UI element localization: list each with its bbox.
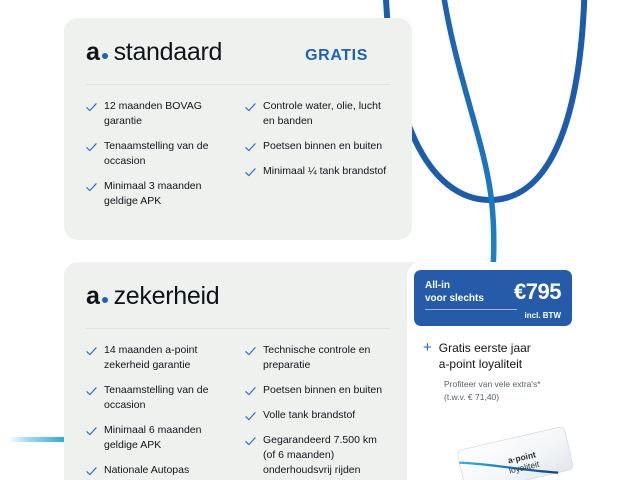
feature-column-right: Controle water, olie, lucht en banden Po… <box>245 99 390 219</box>
feature-column-left: 12 maanden BOVAG garantie Tenaamstelling… <box>86 99 231 219</box>
price-box-caption: All-in voor slechts <box>425 279 484 305</box>
feature-text: Minimaal 3 maanden geldige APK <box>104 179 231 209</box>
check-icon <box>245 436 256 447</box>
loyalty-title-line1: Gratis eerste jaar <box>439 341 531 355</box>
page-root: a standaard GRATIS 12 maanden BOVAG gara… <box>0 0 640 480</box>
brand-logo-zekerheid: a zekerheid <box>86 282 219 311</box>
check-icon <box>86 426 97 437</box>
feature-item: Technische controle en preparatie <box>245 343 390 373</box>
check-icon <box>86 102 97 113</box>
feature-item: Tenaamstelling van de occasion <box>86 383 231 413</box>
feature-text: Poetsen binnen en buiten <box>263 383 382 398</box>
loyalty-card-image: a·point loyaliteit <box>450 424 580 480</box>
feature-item: Volle tank brandstof <box>245 408 390 423</box>
feature-text: Tenaamstelling van de occasion <box>104 139 231 169</box>
feature-list-zekerheid: 14 maanden a-point zekerheid garantie Te… <box>86 343 390 480</box>
feature-item: Minimaal 3 maanden geldige APK <box>86 179 231 209</box>
check-icon <box>86 182 97 193</box>
package-name: standaard <box>114 38 223 67</box>
check-icon <box>245 386 256 397</box>
check-icon <box>86 346 97 357</box>
check-icon <box>245 142 256 153</box>
loyalty-heading: + Gratis eerste jaar a-point loyaliteit <box>423 340 583 372</box>
package-header-zekerheid: a zekerheid <box>86 282 390 316</box>
price-box-row: All-in voor slechts €795 <box>425 279 561 305</box>
feature-text: Technische controle en preparatie <box>263 343 390 373</box>
loyalty-title: Gratis eerste jaar a-point loyaliteit <box>439 340 531 372</box>
feature-item: Minimaal ¼ tank brandstof <box>245 164 390 179</box>
check-icon <box>245 167 256 178</box>
price-box-rule <box>425 309 517 310</box>
loyalty-subtext: Profiteer van vele extra's* (t.w.v. € 71… <box>444 378 583 404</box>
package-card-standaard-content: a standaard GRATIS 12 maanden BOVAG gara… <box>64 18 412 240</box>
feature-text: 12 maanden BOVAG garantie <box>104 99 231 129</box>
feature-text: Poetsen binnen en buiten <box>263 139 382 154</box>
feature-item: Poetsen binnen en buiten <box>245 383 390 398</box>
check-icon <box>245 102 256 113</box>
feature-item: Poetsen binnen en buiten <box>245 139 390 154</box>
package-header-standaard: a standaard GRATIS <box>86 38 390 72</box>
price-caption-line2: voor slechts <box>425 292 484 305</box>
price-box: All-in voor slechts €795 incl. BTW <box>414 270 572 326</box>
loyalty-sub-line1: Profiteer van vele extra's* <box>444 378 583 391</box>
swoosh-loop-dark <box>385 0 585 200</box>
feature-text: Volle tank brandstof <box>263 408 355 423</box>
brand-dot-icon <box>102 297 108 303</box>
loyalty-card-art: a·point loyaliteit <box>450 424 580 480</box>
price-vat-note: incl. BTW <box>525 311 561 320</box>
header-divider <box>86 328 390 329</box>
package-card-standaard: a standaard GRATIS 12 maanden BOVAG gara… <box>64 18 412 240</box>
check-icon <box>86 466 97 477</box>
loyalty-title-line2: a-point loyaliteit <box>439 357 522 371</box>
check-icon <box>245 346 256 357</box>
feature-column-right: Technische controle en preparatie Poetse… <box>245 343 390 480</box>
price-label-standaard: GRATIS <box>305 47 368 65</box>
feature-text: Controle water, olie, lucht en banden <box>263 99 390 129</box>
feature-text: Nationale Autopas <box>104 463 189 478</box>
feature-text: Tenaamstelling van de occasion <box>104 383 231 413</box>
feature-text: 14 maanden a-point zekerheid garantie <box>104 343 231 373</box>
feature-text: Gegarandeerd 7.500 km (of 6 maanden) ond… <box>263 433 390 478</box>
check-icon <box>86 142 97 153</box>
loyalty-sub-line2: (t.w.v. € 71,40) <box>444 391 583 404</box>
price-caption-line1: All-in <box>425 279 484 292</box>
check-icon <box>86 386 97 397</box>
feature-item: Controle water, olie, lucht en banden <box>245 99 390 129</box>
package-card-zekerheid-content: a zekerheid 14 maanden a-point zekerheid… <box>64 262 412 480</box>
header-divider <box>86 84 390 85</box>
brand-logo-standaard: a standaard <box>86 38 222 67</box>
feature-text: Minimaal 6 maanden geldige APK <box>104 423 231 453</box>
feature-item: Gegarandeerd 7.500 km (of 6 maanden) ond… <box>245 433 390 478</box>
feature-item: 14 maanden a-point zekerheid garantie <box>86 343 231 373</box>
feature-text: Minimaal ¼ tank brandstof <box>263 164 386 179</box>
price-amount: €795 <box>514 280 561 304</box>
plus-icon: + <box>423 340 432 355</box>
feature-item: Minimaal 6 maanden geldige APK <box>86 423 231 453</box>
decorative-streak-left <box>8 437 68 442</box>
feature-item: 12 maanden BOVAG garantie <box>86 99 231 129</box>
brand-letter: a <box>86 282 100 311</box>
feature-item: Nationale Autopas <box>86 463 231 478</box>
feature-item: Tenaamstelling van de occasion <box>86 139 231 169</box>
feature-list-standaard: 12 maanden BOVAG garantie Tenaamstelling… <box>86 99 390 219</box>
feature-column-left: 14 maanden a-point zekerheid garantie Te… <box>86 343 231 480</box>
brand-letter: a <box>86 38 100 67</box>
brand-dot-icon <box>102 53 108 59</box>
check-icon <box>245 411 256 422</box>
loyalty-upsell: + Gratis eerste jaar a-point loyaliteit … <box>423 340 583 404</box>
package-name: zekerheid <box>114 282 220 311</box>
